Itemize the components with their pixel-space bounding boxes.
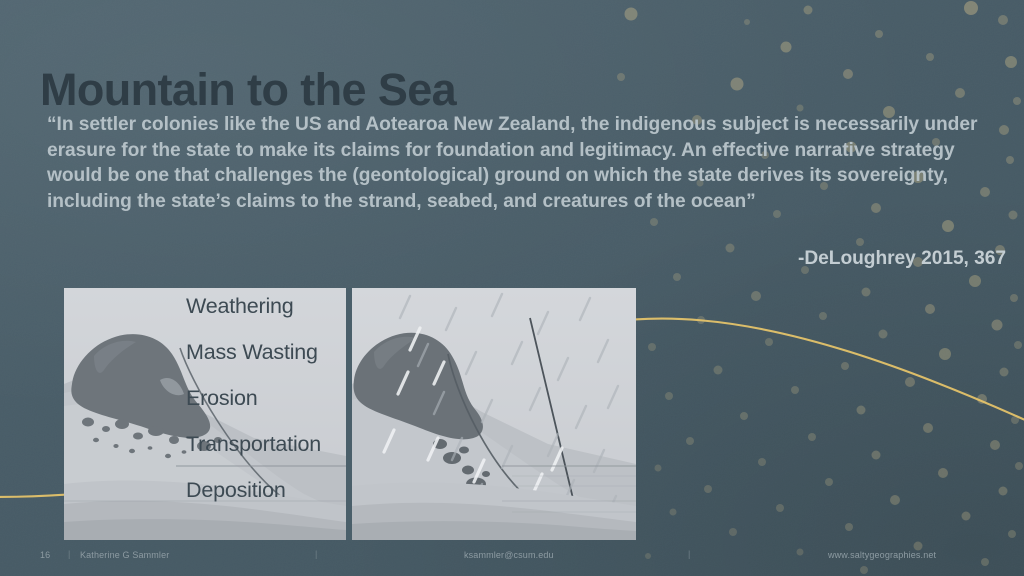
erosion-diagram — [64, 288, 636, 540]
left-panel-illustration — [64, 288, 346, 540]
footer-author: Katherine G Sammler — [80, 550, 169, 560]
footer-website: www.saltygeographies.net — [828, 550, 936, 560]
slide: Mountain to the Sea “In settler colonies… — [0, 0, 1024, 576]
page-title: Mountain to the Sea — [40, 66, 456, 113]
quote-text: “In settler colonies like the US and Aot… — [47, 112, 1009, 214]
footer-email: ksammler@csum.edu — [464, 550, 554, 560]
footer-separator: | — [68, 549, 71, 559]
quote-attribution: -DeLoughrey 2015, 367 — [798, 248, 1006, 270]
footer-separator: | — [688, 549, 691, 559]
right-panel-illustration — [352, 288, 636, 540]
footer: 16 | Katherine G Sammler | ksammler@csum… — [0, 550, 1024, 566]
diagram-panel-right — [352, 288, 636, 540]
footer-page-number: 16 — [40, 550, 50, 560]
diagram-panel-left — [64, 288, 346, 540]
footer-separator: | — [315, 549, 318, 559]
